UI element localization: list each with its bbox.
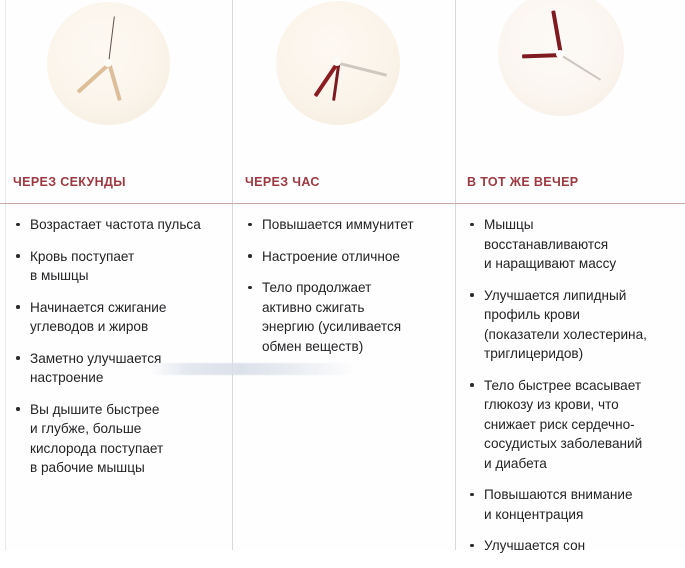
list-item: Повышается иммунитет [246, 215, 448, 235]
clock-center-pin-2 [333, 58, 341, 66]
heading-underline-rule [0, 203, 685, 204]
infographic-page: ЧЕРЕЗ СЕКУНДЫ Возрастает частота пульса … [0, 0, 685, 550]
watermark-artifact [150, 363, 355, 375]
list-item: Улучшается липидный профиль крови (показ… [468, 286, 678, 364]
column-heading-hour: ЧЕРЕЗ ЧАС [245, 175, 320, 189]
clock-illustration-1 [0, 0, 232, 165]
list-item: Тело продолжает активно сжигать энергию … [246, 278, 448, 356]
clock-illustration-3 [456, 0, 685, 165]
clock-center-pin-3 [556, 50, 564, 58]
clock-face-2 [276, 1, 400, 125]
list-item: Начинается сжигание углеводов и жиров [14, 298, 224, 337]
column-heading-evening: В ТОТ ЖЕ ВЕЧЕР [467, 175, 579, 189]
clock-illustration-2 [233, 0, 455, 165]
column-hour: ЧЕРЕЗ ЧАС Повышается иммунитет Настроени… [233, 0, 455, 550]
list-item: Кровь поступает в мышцы [14, 247, 224, 286]
list-item: Повышаются внимание и концентрация [468, 485, 678, 524]
benefit-list-hour: Повышается иммунитет Настроение отличное… [246, 215, 448, 368]
benefit-list-seconds: Возрастает частота пульса Кровь поступае… [14, 215, 224, 490]
column-heading-seconds: ЧЕРЕЗ СЕКУНДЫ [13, 175, 126, 189]
list-item: Возрастает частота пульса [14, 215, 224, 235]
clock-center-pin-1 [104, 59, 112, 67]
list-item: Настроение отличное [246, 247, 448, 267]
list-item: Вы дышите быстрее и глубже, больше кисло… [14, 400, 224, 478]
list-item: Мышцы восстанавливаются и наращивают мас… [468, 215, 678, 274]
clock-dial-3 [498, 0, 624, 116]
list-item: Тело быстрее всасывает глюкозу из крови,… [468, 376, 678, 474]
column-evening: В ТОТ ЖЕ ВЕЧЕР Мышцы восстанавливаются и… [456, 0, 685, 550]
column-seconds: ЧЕРЕЗ СЕКУНДЫ Возрастает частота пульса … [0, 0, 232, 550]
benefit-list-evening: Мышцы восстанавливаются и наращивают мас… [468, 215, 678, 568]
list-item: Улучшается сон [468, 536, 678, 556]
clock-face-3 [498, 0, 624, 116]
clock-face-1 [47, 2, 170, 125]
